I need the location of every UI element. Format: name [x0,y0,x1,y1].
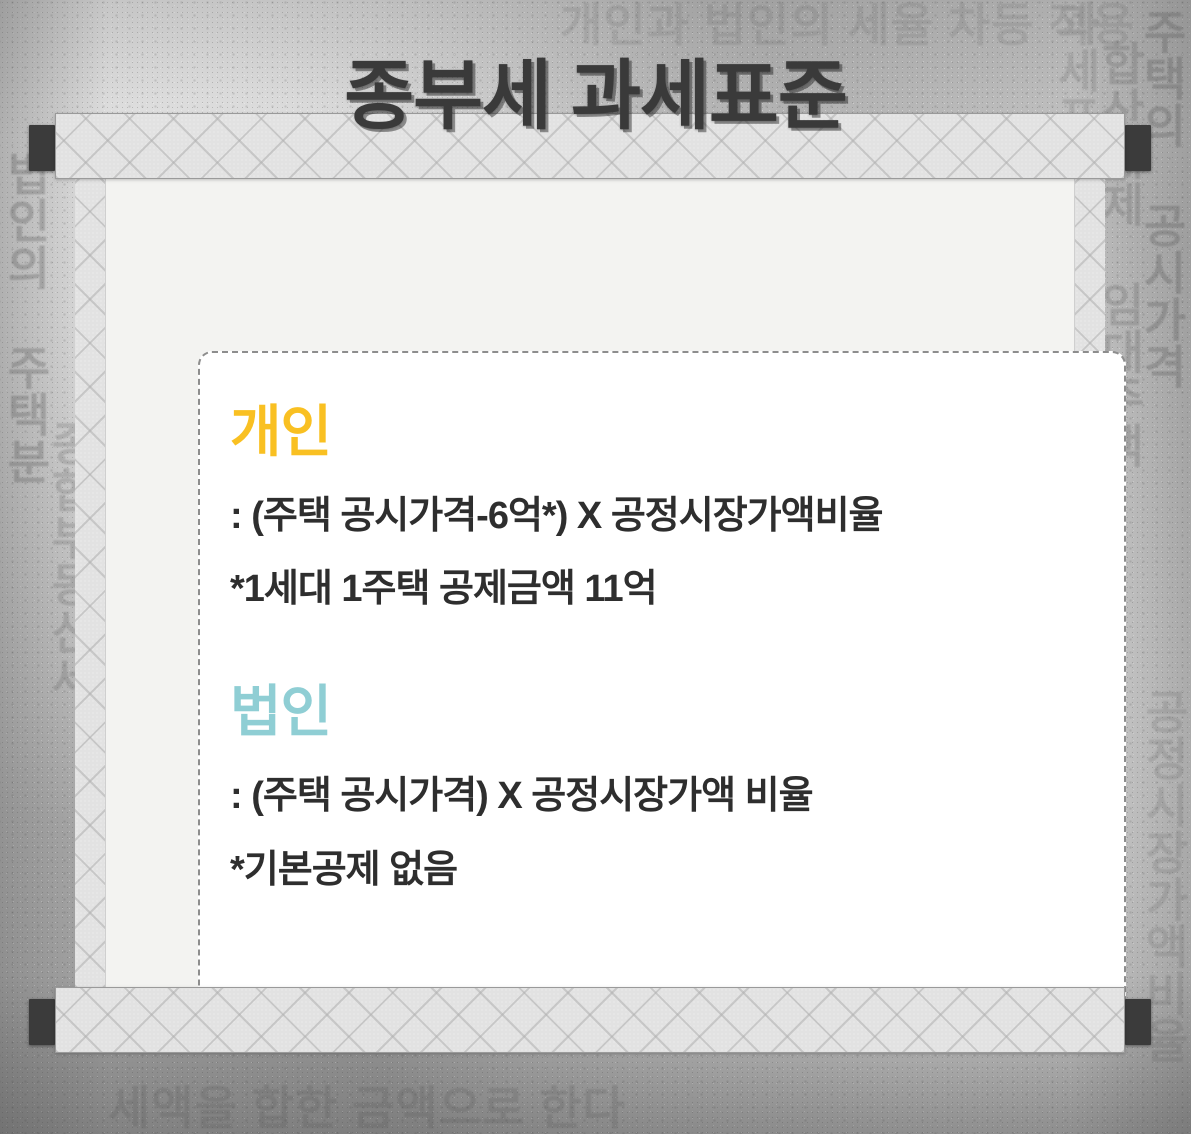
section-personal-formula: : (주택 공시가격-6억*) X 공정시장가액비율 [230,488,1124,546]
section-heading-corporate: 법인 [230,681,1124,744]
scroll-rod-bottom [55,987,1125,1053]
section-personal-note: *1세대 1주택 공제금액 11억 [230,561,1124,619]
section-corporate-note: *기본공제 없음 [230,842,1124,900]
section-corporate-formula: : (주택 공시가격) X 공정시장가액 비율 [230,768,1124,826]
scroll-banner: 개인 : (주택 공시가격-6억*) X 공정시장가액비율 *1세대 1주택 공… [55,113,1125,1053]
section-heading-personal: 개인 [230,401,1124,464]
section-personal: 개인 : (주택 공시가격-6억*) X 공정시장가액비율 *1세대 1주택 공… [230,401,1124,619]
content-card: 개인 : (주택 공시가격-6억*) X 공정시장가액비율 *1세대 1주택 공… [198,351,1126,1035]
section-corporate: 법인 : (주택 공시가격) X 공정시장가액 비율 *기본공제 없음 [230,681,1124,899]
scroll-rod-cap-bottom-right [1125,999,1151,1045]
scroll-rod-cap-bottom-left [29,999,55,1045]
scroll-rail-left [75,179,105,987]
page-title: 종부세 과세표준 [0,34,1191,144]
slide-canvas: 법인의 주택분 종합부동산세 주택의 공시가격 합산배제 임대주택 과세표준 합… [0,0,1191,1134]
